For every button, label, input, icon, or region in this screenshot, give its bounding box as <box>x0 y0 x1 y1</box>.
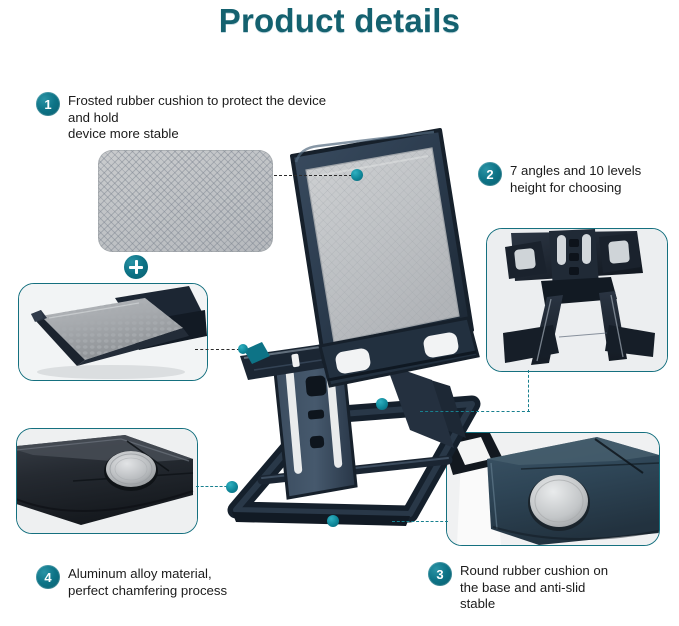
callout-1-badge: 1 <box>36 92 60 116</box>
hotspot-dot-arm <box>238 344 248 354</box>
product-illustration <box>196 118 506 538</box>
callout-3-badge: 3 <box>428 562 452 586</box>
hotspot-dot-base-bottom <box>327 515 339 527</box>
connector-hinge-horizontal <box>420 411 530 412</box>
plus-icon <box>124 255 148 279</box>
connector-hinge-vertical <box>528 370 529 412</box>
callout-2-badge: 2 <box>478 162 502 186</box>
hotspot-dot-base-left <box>226 481 238 493</box>
connector-pad-to-cushion <box>274 175 352 176</box>
connector-basecorner-to-base <box>392 521 448 522</box>
callout-1: 1 Frosted rubber cushion to protect the … <box>36 92 336 143</box>
base-chamfer-art <box>17 429 197 533</box>
cushion-3d-art <box>19 284 207 380</box>
callout-4-badge: 4 <box>36 565 60 589</box>
hinge-art <box>487 229 667 371</box>
inset-frosted-pad-3d <box>18 283 208 381</box>
infographic-canvas: Product details <box>0 0 679 626</box>
callout-4: 4 Aluminum alloy material, perfect chamf… <box>36 565 286 599</box>
inset-hinge-mechanism <box>486 228 668 372</box>
callout-3: 3 Round rubber cushion on the base and a… <box>428 562 668 613</box>
callout-4-text: Aluminum alloy material, perfect chamfer… <box>68 565 227 599</box>
phone-stand-art <box>196 118 506 538</box>
page-title: Product details <box>0 2 679 40</box>
connector-cushion3d-to-arm <box>195 349 240 350</box>
hotspot-dot-cushion <box>351 169 363 181</box>
callout-2-text: 7 angles and 10 levels height for choosi… <box>510 162 641 196</box>
callout-1-text: Frosted rubber cushion to protect the de… <box>68 92 336 143</box>
callout-2: 2 7 angles and 10 levels height for choo… <box>478 162 676 196</box>
callout-3-text: Round rubber cushion on the base and ant… <box>460 562 608 613</box>
hotspot-dot-base-top <box>376 398 388 410</box>
inset-base-chamfer-foot <box>16 428 198 534</box>
